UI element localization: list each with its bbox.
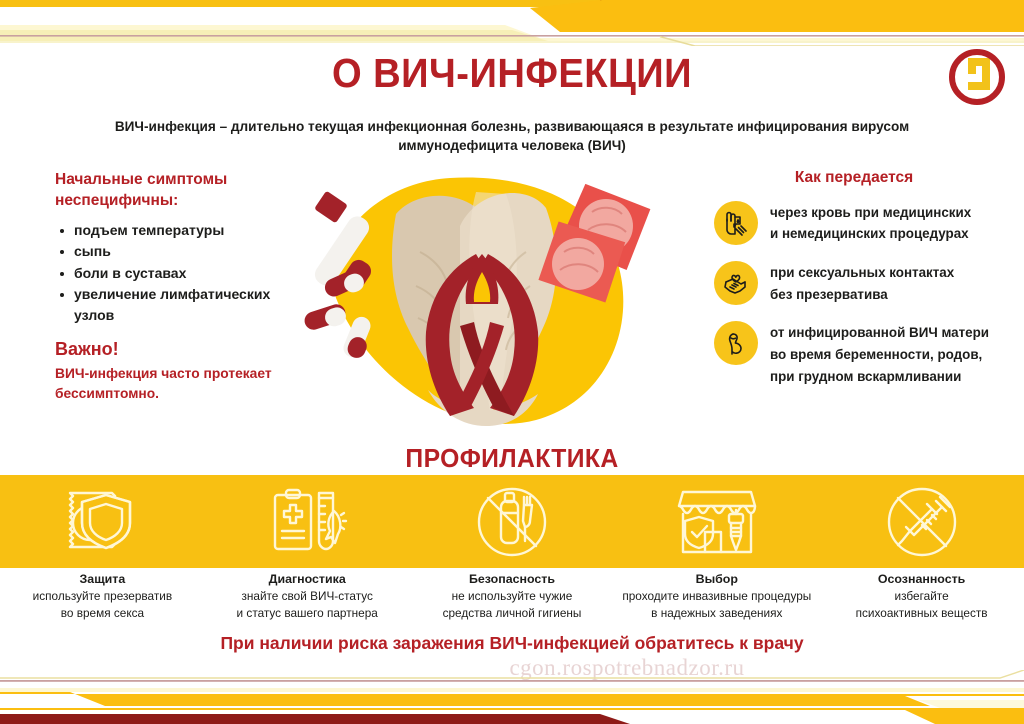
prevention-item-title: Диагностика bbox=[211, 572, 404, 586]
page-title: О ВИЧ-ИНФЕКЦИИ bbox=[36, 50, 988, 97]
prevention-label-diagnostics: Диагностика знайте свой ВИЧ-статус и ста… bbox=[205, 572, 410, 622]
transmission-text: при сексуальных контактах без презервати… bbox=[770, 261, 954, 305]
prevention-label-awareness: Осознанность избегайте психоактивных вещ… bbox=[819, 572, 1024, 622]
prevention-label-safety: Безопасность не используйте чужие средст… bbox=[410, 572, 615, 622]
text-line: при сексуальных контактах bbox=[770, 262, 954, 284]
text-line: и статус вашего партнера bbox=[211, 605, 404, 622]
symptoms-section: Начальные симптомы неспецифичны: подъем … bbox=[55, 170, 300, 404]
text-line: при грудном вскармливании bbox=[770, 366, 989, 388]
transmission-item-sexual: при сексуальных контактах без презервати… bbox=[714, 261, 994, 305]
prevention-icon-cell bbox=[410, 475, 615, 568]
clipboard-testtube-ribbon-icon bbox=[265, 485, 349, 559]
prevention-label-protection: Защита используйте презерватив во время … bbox=[0, 572, 205, 622]
handshake-heart-icon bbox=[714, 261, 758, 305]
text-line: знайте свой ВИЧ-статус bbox=[211, 588, 404, 605]
text-line: психоактивных веществ bbox=[825, 605, 1018, 622]
important-heading: Важно! bbox=[55, 339, 300, 360]
pregnant-woman-icon bbox=[714, 321, 758, 365]
text-line: используйте презерватив bbox=[6, 588, 199, 605]
symptoms-list: подъем температуры сыпь боли в суставах … bbox=[57, 220, 300, 326]
top-decorative-band bbox=[0, 0, 1024, 46]
transmission-heading: Как передается bbox=[714, 168, 994, 189]
list-item: увеличение лимфатических узлов bbox=[57, 284, 300, 327]
important-text: ВИЧ-инфекция часто протекает бессимптомн… bbox=[55, 364, 300, 404]
text-line: избегайте bbox=[825, 588, 1018, 605]
prevention-icons-row bbox=[0, 475, 1024, 568]
lead-paragraph: ВИЧ-инфекция – длительно текущая инфекци… bbox=[62, 117, 962, 156]
bottom-decorative-band bbox=[0, 670, 1024, 724]
footer-call-to-action: При наличии риска заражения ВИЧ-инфекцие… bbox=[0, 633, 1024, 654]
prevention-icon-cell bbox=[205, 475, 410, 568]
transmission-section: Как передается через кровь при мед bbox=[714, 168, 994, 404]
list-item: сыпь bbox=[57, 241, 300, 262]
transmission-text: через кровь при медицинских и немедицинс… bbox=[770, 201, 971, 245]
prevention-label-choice: Выбор проходите инвазивные процедуры в н… bbox=[614, 572, 819, 622]
prevention-labels-row: Защита используйте презерватив во время … bbox=[0, 572, 1024, 622]
prevention-icon-cell bbox=[0, 475, 205, 568]
prevention-item-title: Безопасность bbox=[416, 572, 609, 586]
text-line: во время секса bbox=[6, 605, 199, 622]
text-line: от инфицированной ВИЧ матери bbox=[770, 322, 989, 344]
list-item: боли в суставах bbox=[57, 263, 300, 284]
text-line: проходите инвазивные процедуры bbox=[620, 588, 813, 605]
prevention-item-title: Выбор bbox=[620, 572, 813, 586]
transmission-item-mother-to-child: от инфицированной ВИЧ матери во время бе… bbox=[714, 321, 994, 387]
holding-hands-with-red-ribbon-illustration bbox=[300, 168, 662, 446]
poster-root: О ВИЧ-ИНФЕКЦИИ ВИЧ-инфекция – длительно … bbox=[0, 0, 1024, 724]
condom-shield-icon bbox=[60, 485, 144, 559]
no-personal-hygiene-sharing-icon bbox=[470, 483, 554, 561]
text-line: во время беременности, родов, bbox=[770, 344, 989, 366]
text-line: в надежных заведениях bbox=[620, 605, 813, 622]
list-item: подъем температуры bbox=[57, 220, 300, 241]
prevention-icon-cell bbox=[614, 475, 819, 568]
transmission-text: от инфицированной ВИЧ матери во время бе… bbox=[770, 321, 989, 387]
text-line: через кровь при медицинских bbox=[770, 202, 971, 224]
text-line: и немедицинских процедурах bbox=[770, 223, 971, 245]
prevention-icon-cell bbox=[819, 475, 1024, 568]
prevention-title: ПРОФИЛАКТИКА bbox=[26, 443, 999, 474]
text-line: не используйте чужие bbox=[416, 588, 609, 605]
symptoms-heading: Начальные симптомы неспецифичны: bbox=[55, 170, 300, 211]
transmission-item-blood: через кровь при медицинских и немедицинс… bbox=[714, 201, 994, 245]
text-line: средства личной гигиены bbox=[416, 605, 609, 622]
trusted-clinic-shop-icon bbox=[671, 484, 763, 560]
prevention-item-title: Осознанность bbox=[825, 572, 1018, 586]
prevention-item-title: Защита bbox=[6, 572, 199, 586]
no-drugs-syringe-icon bbox=[880, 483, 964, 561]
gloved-hand-syringe-blood-icon bbox=[714, 201, 758, 245]
text-line: без презерватива bbox=[770, 284, 954, 306]
